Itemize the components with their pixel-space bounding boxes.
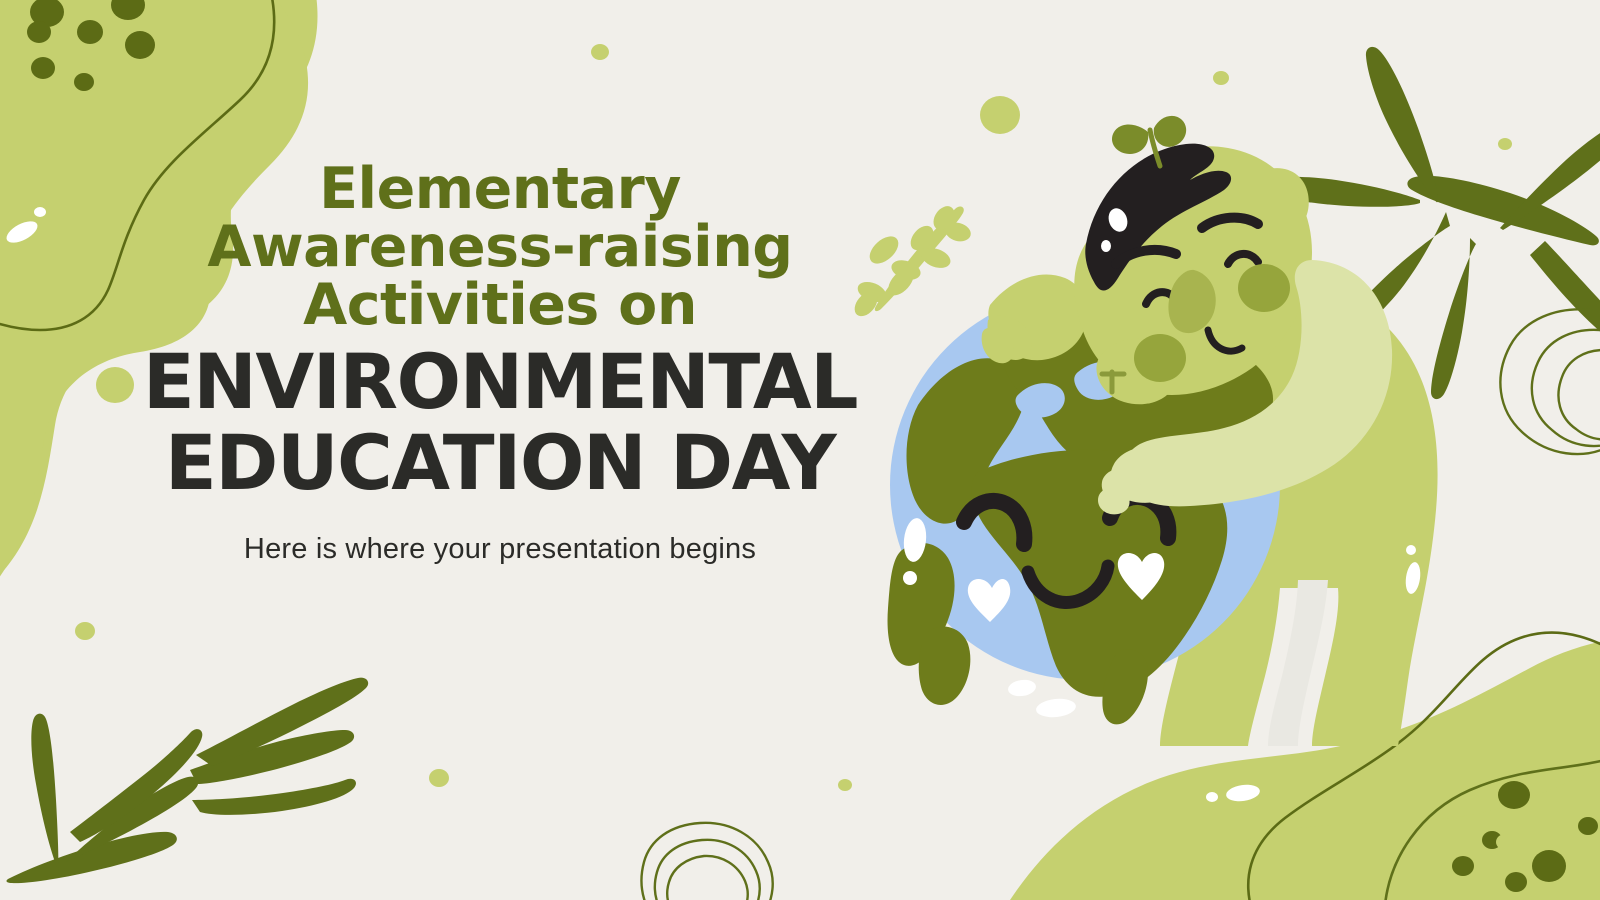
blob-dot — [74, 73, 94, 91]
scatter-dot — [591, 44, 609, 60]
blob-dot — [1532, 850, 1566, 882]
blob-dot — [77, 20, 103, 44]
hair-highlight — [1101, 240, 1111, 252]
child-hugging-earth-illustration — [860, 110, 1480, 750]
title-top-line-3: Activities on — [140, 276, 860, 334]
blob-dot — [1578, 817, 1598, 835]
scatter-dot — [96, 367, 134, 403]
blob-highlight — [1206, 792, 1218, 802]
blob-dot — [1505, 872, 1527, 892]
character-right-cheek — [1238, 264, 1290, 312]
scatter-dot — [429, 769, 449, 787]
blob-dot — [1452, 856, 1474, 876]
slide-text-block: Elementary Awareness-raising Activities … — [140, 160, 860, 566]
blob-dot — [31, 57, 55, 79]
character-left-cheek — [1134, 334, 1186, 382]
scatter-dot — [1213, 71, 1229, 85]
title-top-line-2: Awareness-raising — [140, 218, 860, 276]
title-top: Elementary Awareness-raising Activities … — [140, 160, 860, 334]
blob-highlight — [34, 207, 46, 217]
blob-dot — [125, 31, 155, 59]
blob-dot — [27, 21, 51, 43]
scatter-dot — [1498, 138, 1512, 150]
scatter-dot — [1496, 834, 1514, 850]
title-main-line-1: ENVIRONMENTAL — [140, 342, 860, 423]
title-main-line-2: EDUCATION DAY — [140, 423, 860, 504]
title-main: ENVIRONMENTAL EDUCATION DAY — [140, 342, 860, 503]
presentation-slide: Elementary Awareness-raising Activities … — [0, 0, 1600, 900]
title-top-line-1: Elementary — [140, 160, 860, 218]
scatter-dot — [75, 622, 95, 640]
slide-subtitle: Here is where your presentation begins — [140, 533, 860, 566]
blob-dot — [1498, 781, 1530, 809]
scatter-dot — [838, 779, 852, 791]
